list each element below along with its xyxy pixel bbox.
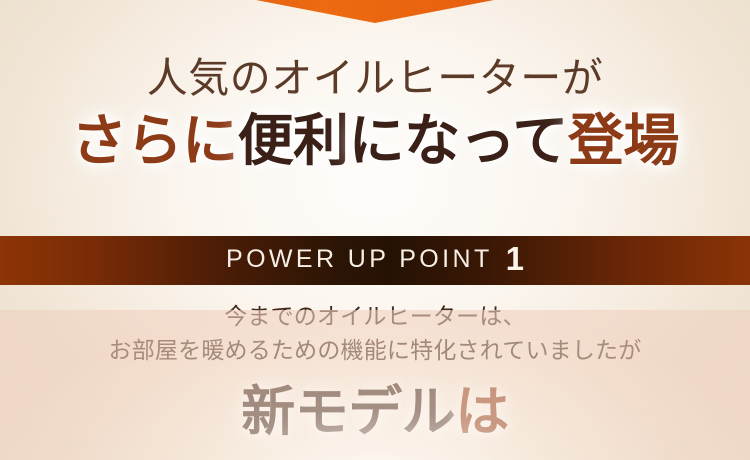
headline-segment-toujou: 登場 xyxy=(568,109,679,172)
body-copy-line-1: 今までのオイルヒーターは、 xyxy=(0,299,750,333)
closing-segment-shin-model: 新モデル xyxy=(241,382,455,442)
power-up-point-band: POWER UP POINT 1 xyxy=(0,236,750,285)
headline-block: 人気のオイルヒーターが さらに便利になって登場 xyxy=(0,56,750,171)
body-copy-line-2: お部屋を暖めるための機能に特化されていましたが xyxy=(0,333,750,367)
headline-segment-benri: 便利 xyxy=(238,109,349,172)
body-copy-block: 今までのオイルヒーターは、 お部屋を暖めるための機能に特化されていましたが xyxy=(0,299,750,367)
headline-line-1: 人気のオイルヒーターが xyxy=(0,56,750,100)
headline-line-2: さらに便利になって登場 xyxy=(0,112,750,171)
power-up-point-label: POWER UP POINT xyxy=(226,245,493,274)
promo-banner: 人気のオイルヒーターが さらに便利になって登場 POWER UP POINT 1… xyxy=(0,0,750,460)
power-up-point-band-inner: POWER UP POINT 1 xyxy=(226,243,524,276)
closing-segment-wa: は xyxy=(455,382,509,442)
down-arrow-banner xyxy=(0,0,750,30)
down-chevron-arrow-icon xyxy=(0,0,750,30)
headline-segment-sarani: さらに xyxy=(71,109,238,172)
power-up-point-number: 1 xyxy=(506,242,524,275)
closing-line: 新モデルは xyxy=(0,384,750,441)
headline-segment-ninatte: になって xyxy=(349,109,568,172)
